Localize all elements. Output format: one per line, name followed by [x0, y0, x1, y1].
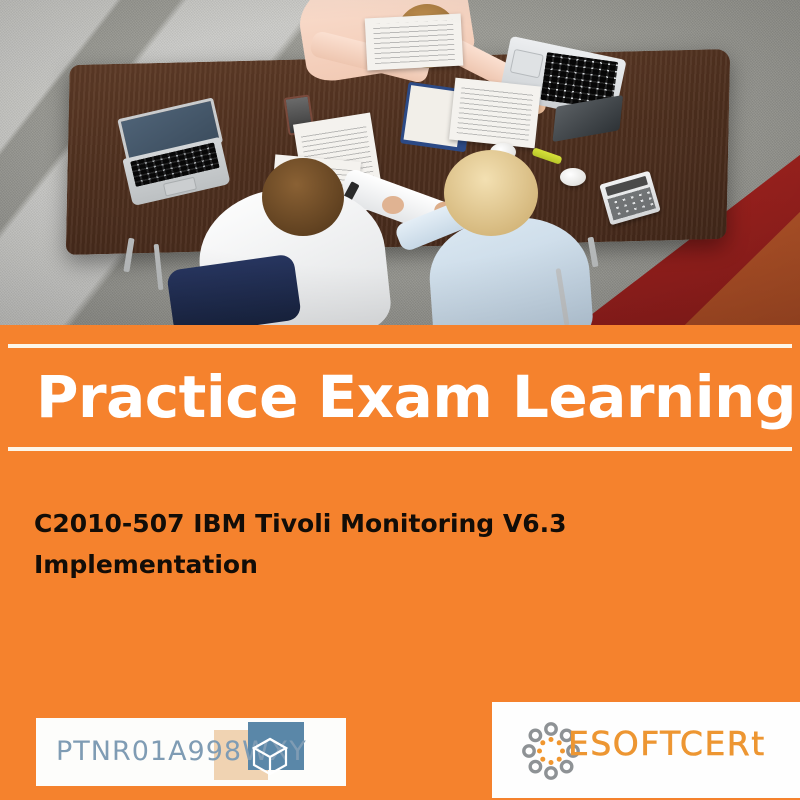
- laptop-trackpad: [510, 49, 544, 79]
- esoftcert-wordmark: ESOFTCERt: [568, 724, 766, 763]
- divider-top: [8, 344, 792, 348]
- page-title: Practice Exam Learning: [36, 357, 776, 437]
- cube-icon: [250, 736, 290, 776]
- practice-exam-cover: Practice Exam Learning C2010-507 IBM Tiv…: [0, 0, 800, 800]
- exam-subject: C2010-507 IBM Tivoli Monitoring V6.3 Imp…: [34, 503, 694, 585]
- person-hair: [444, 150, 538, 236]
- person-hair: [262, 158, 344, 236]
- coffee-cup: [560, 168, 586, 186]
- exam-subject-line-1: C2010-507 IBM Tivoli Monitoring V6.3: [34, 503, 694, 544]
- divider-bottom: [8, 447, 792, 451]
- document-sheet: [365, 14, 464, 71]
- person-hand: [382, 196, 404, 214]
- esoftcert-logo: ESOFTCERt: [492, 702, 800, 798]
- document-sheet: [449, 78, 541, 149]
- header-photo: [0, 0, 800, 325]
- exam-subject-line-2: Implementation: [34, 544, 694, 585]
- watermark-code-logo: PTNR01A998WXY: [36, 718, 346, 786]
